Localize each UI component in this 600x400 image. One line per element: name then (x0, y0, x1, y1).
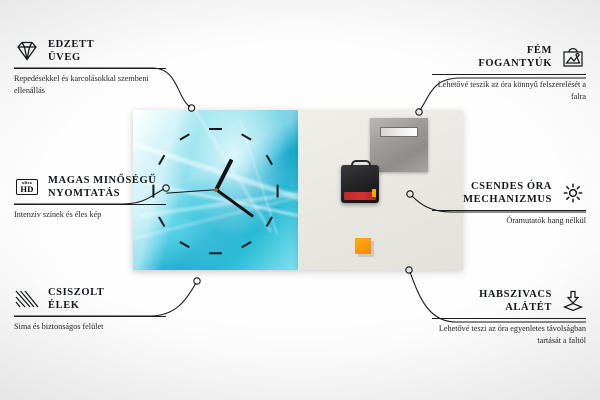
gear-icon (560, 182, 586, 204)
feature-description: Repedésekkel és karcolásokkal szembeni e… (14, 73, 166, 97)
clock-tick (209, 128, 222, 130)
battery (344, 192, 376, 200)
feature-tempered-glass: EDZETTÜVEG Repedésekkel és karcolásokkal… (14, 38, 166, 97)
feature-header: CSENDES ÓRAMECHANIZMUS (432, 180, 586, 206)
battery-tip (372, 189, 376, 197)
metal-hanger-plate (370, 118, 428, 172)
divider (14, 204, 166, 205)
feature-description: Intenzív színek és éles kép (14, 209, 166, 221)
feature-header: ultra HD MAGAS MINŐSÉGŰNYOMTATÁS (14, 174, 166, 200)
feature-description: Óramutatók hang nélkül (432, 215, 586, 227)
clock-center-pin (214, 188, 218, 192)
feature-title: CSISZOLTÉLEK (48, 286, 104, 312)
foam-pad-icon (560, 290, 586, 312)
feature-polished-edges: CSISZOLTÉLEK Sima és biztonságos felület (14, 286, 166, 333)
feature-title: CSENDES ÓRAMECHANIZMUS (463, 180, 552, 206)
feature-header: EDZETTÜVEG (14, 38, 166, 64)
diamond-icon (14, 40, 40, 62)
feature-description: Sima és biztonságos felület (14, 321, 166, 333)
feature-title: HABSZIVACSALÁTÉT (479, 288, 552, 314)
divider (14, 316, 166, 317)
foam-pad (355, 238, 371, 254)
divider (14, 68, 166, 69)
clock-mechanism (341, 165, 379, 203)
clock-tick (276, 185, 278, 198)
feature-title: FÉMFOGANTYÚK (478, 44, 552, 70)
mechanism-knob (351, 160, 371, 168)
feature-header: FÉMFOGANTYÚK (432, 44, 586, 70)
product-photo (133, 110, 463, 270)
feature-title: MAGAS MINŐSÉGŰNYOMTATÁS (48, 174, 156, 200)
hanger-slot (380, 127, 418, 137)
divider (432, 210, 586, 211)
feature-foam-pad: HABSZIVACSALÁTÉT Lehetővé teszi az óra e… (432, 288, 586, 347)
feature-title: EDZETTÜVEG (48, 38, 94, 64)
divider (432, 318, 586, 319)
feature-header: CSISZOLTÉLEK (14, 286, 166, 312)
feature-silent-mechanism: CSENDES ÓRAMECHANIZMUS Óramutatók hang n… (432, 180, 586, 227)
feature-metal-handles: FÉMFOGANTYÚK Lehetővé teszik az óra könn… (432, 44, 586, 103)
feature-description: Lehetővé teszi az óra egyenletes távolsá… (432, 323, 586, 347)
feature-header: HABSZIVACSALÁTÉT (432, 288, 586, 314)
divider (432, 74, 586, 75)
ultra-hd-icon: ultra HD (14, 176, 40, 198)
hanger-plate-icon (560, 46, 586, 68)
feature-high-quality-print: ultra HD MAGAS MINŐSÉGŰNYOMTATÁS Intenzí… (14, 174, 166, 221)
infographic-canvas: EDZETTÜVEG Repedésekkel és karcolásokkal… (0, 0, 600, 400)
polished-edges-icon (14, 288, 40, 310)
feature-description: Lehetővé teszik az óra könnyű felszerelé… (432, 79, 586, 103)
clock-tick (209, 252, 222, 254)
